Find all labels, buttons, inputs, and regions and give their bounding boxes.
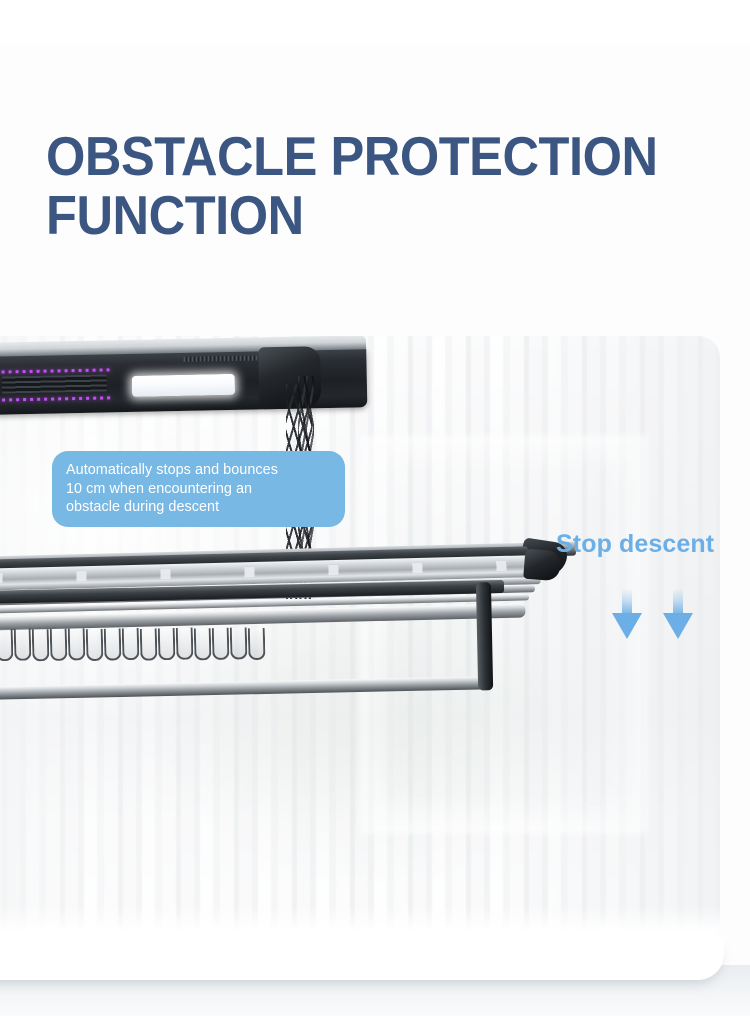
drying-rack-lower	[0, 579, 556, 722]
page-root: OBSTACLE PROTECTION FUNCTION	[0, 0, 750, 1016]
arrow-tail	[622, 589, 632, 615]
down-arrow-icon-1	[612, 589, 642, 639]
bottom-white-curve	[0, 938, 724, 980]
lower-rack-side-post	[476, 582, 493, 690]
callout-text: Automatically stops and bounces 10 cm wh…	[66, 461, 331, 517]
page-title-line-1: OBSTACLE PROTECTION	[46, 129, 672, 184]
page-title: OBSTACLE PROTECTION FUNCTION	[46, 129, 726, 243]
page-title-line-2: FUNCTION	[46, 188, 672, 243]
down-arrow-icon-2	[663, 589, 693, 639]
lower-rack-bottom-bar	[0, 676, 490, 701]
callout-bubble: Automatically stops and bounces 10 cm wh…	[52, 451, 345, 527]
arrow-tail	[673, 589, 683, 615]
product-photo	[0, 336, 720, 952]
arrow-head	[612, 613, 642, 639]
ceiling-unit-grille	[2, 374, 107, 393]
arrow-head	[663, 613, 693, 639]
stop-descent-label: Stop descent	[556, 530, 714, 559]
led-panel-right	[132, 374, 235, 397]
